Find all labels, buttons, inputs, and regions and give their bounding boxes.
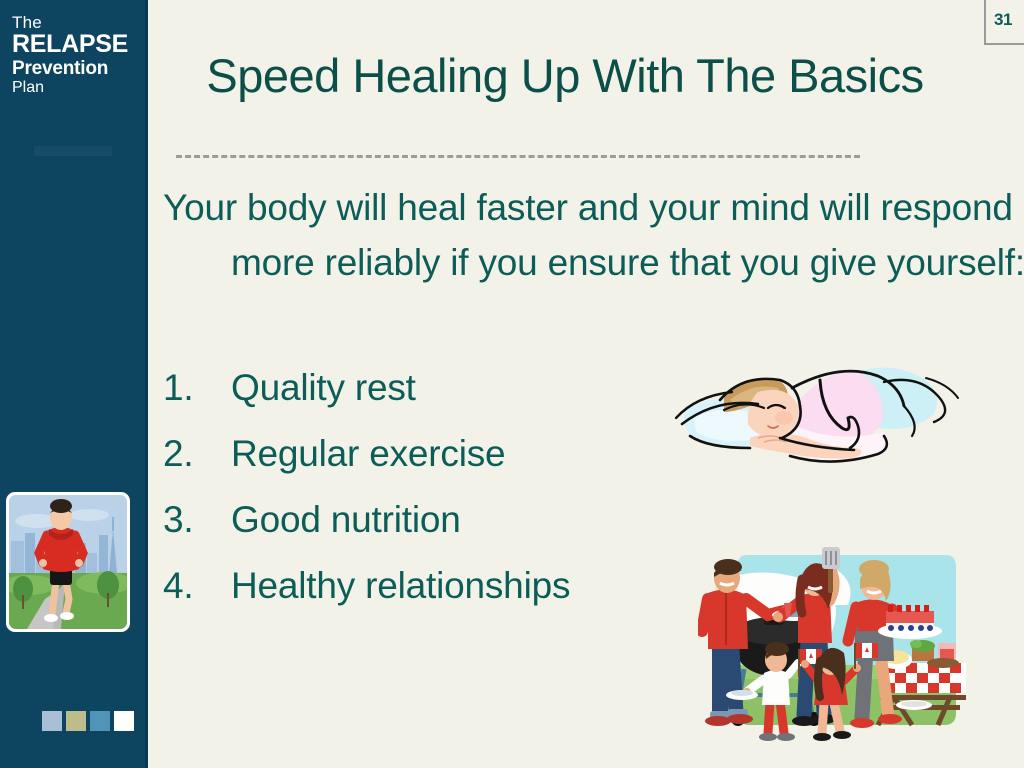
list-item-label: Quality rest (231, 355, 416, 421)
list-item-label: Healthy relationships (231, 553, 570, 619)
list-item-label: Regular exercise (231, 421, 505, 487)
logo-line-plan: Plan (12, 80, 128, 96)
jogger-image-frame (6, 492, 130, 632)
family-bbq-icon (698, 545, 970, 760)
list-item-number: 1. (163, 355, 218, 421)
family-bbq-clipart (698, 545, 970, 760)
intro-paragraph: Your body will heal faster and your mind… (163, 180, 1024, 290)
slide: The RELAPSE Prevention Plan (0, 0, 1024, 768)
intro-paragraph-line-1: Your body will heal faster and your mind… (163, 187, 870, 228)
sidebar-watermark (34, 146, 112, 156)
sidebar: The RELAPSE Prevention Plan (0, 0, 147, 768)
list-item-number: 2. (163, 421, 218, 487)
logo-line-prevention: Prevention (12, 59, 128, 78)
sleeping-woman-clipart (672, 352, 962, 484)
title-divider (176, 155, 860, 158)
logo-line-relapse: RELAPSE (12, 32, 128, 58)
list-item: 3. Good nutrition (163, 487, 783, 553)
list-item-number: 4. (163, 553, 218, 619)
brand-logo: The RELAPSE Prevention Plan (12, 14, 128, 97)
page-number: 31 (986, 10, 1020, 30)
list-item-label: Good nutrition (231, 487, 461, 553)
sleeping-woman-icon (672, 352, 962, 484)
color-chip-row (42, 711, 134, 731)
logo-line-the: The (12, 14, 128, 31)
page-number-box: 31 (984, 0, 1024, 45)
chip-white (114, 711, 134, 731)
chip-light-blue (42, 711, 62, 731)
sidebar-edge (145, 0, 148, 768)
list-item-number: 3. (163, 487, 218, 553)
list-item: 4. Healthy relationships (163, 553, 783, 619)
chip-blue (90, 711, 110, 731)
chip-olive (66, 711, 86, 731)
jogger-illustration (9, 495, 127, 629)
intro-paragraph-line-3: give yourself: (810, 242, 1024, 283)
page-title: Speed Healing Up With The Basics (165, 48, 965, 103)
jogger-icon (9, 495, 127, 629)
